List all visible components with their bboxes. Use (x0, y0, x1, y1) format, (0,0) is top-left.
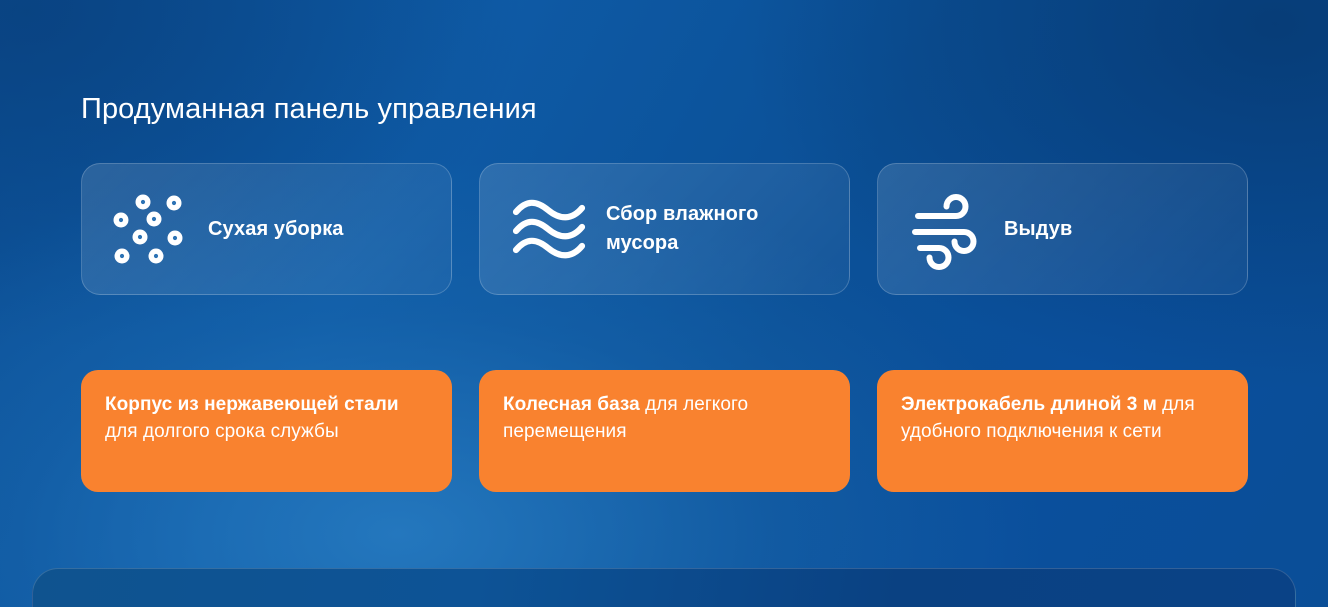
bottom-panel (32, 568, 1296, 607)
page-title: Продуманная панель управления (81, 90, 537, 128)
spec-card-text: Электрокабель длиной 3 м для удобного по… (901, 392, 1224, 445)
water-waves-icon (506, 188, 592, 270)
spec-card-wheel-base[interactable]: Колесная база для легкого перемещения (479, 370, 850, 492)
spec-card-description: для долгого срока службы (105, 421, 339, 442)
spec-card-row: Корпус из нержавеющей стали для долгого … (81, 370, 1248, 492)
feature-card-dry-cleaning[interactable]: Сухая уборка (81, 163, 452, 295)
feature-card-row: Сухая уборка Сбор влажного мусора Вы (81, 163, 1248, 295)
feature-card-blow[interactable]: Выдув (877, 163, 1248, 295)
promo-section: Продуманная панель управления (0, 0, 1328, 607)
feature-card-label: Сбор влажного мусора (606, 200, 821, 258)
spec-card-text: Колесная база для легкого перемещения (503, 392, 826, 445)
spec-card-stainless-body[interactable]: Корпус из нержавеющей стали для долгого … (81, 370, 452, 492)
feature-card-label: Сухая уборка (208, 215, 344, 244)
spec-card-highlight: Колесная база (503, 394, 640, 415)
spec-card-highlight: Электрокабель длиной 3 м (901, 394, 1157, 415)
spec-card-text: Корпус из нержавеющей стали для долгого … (105, 392, 428, 445)
dust-particles-icon (108, 188, 194, 270)
feature-card-label: Выдув (1004, 215, 1072, 244)
spec-card-highlight: Корпус из нержавеющей стали (105, 394, 399, 415)
feature-card-wet-pickup[interactable]: Сбор влажного мусора (479, 163, 850, 295)
wind-blow-icon (904, 188, 990, 270)
spec-card-power-cable[interactable]: Электрокабель длиной 3 м для удобного по… (877, 370, 1248, 492)
